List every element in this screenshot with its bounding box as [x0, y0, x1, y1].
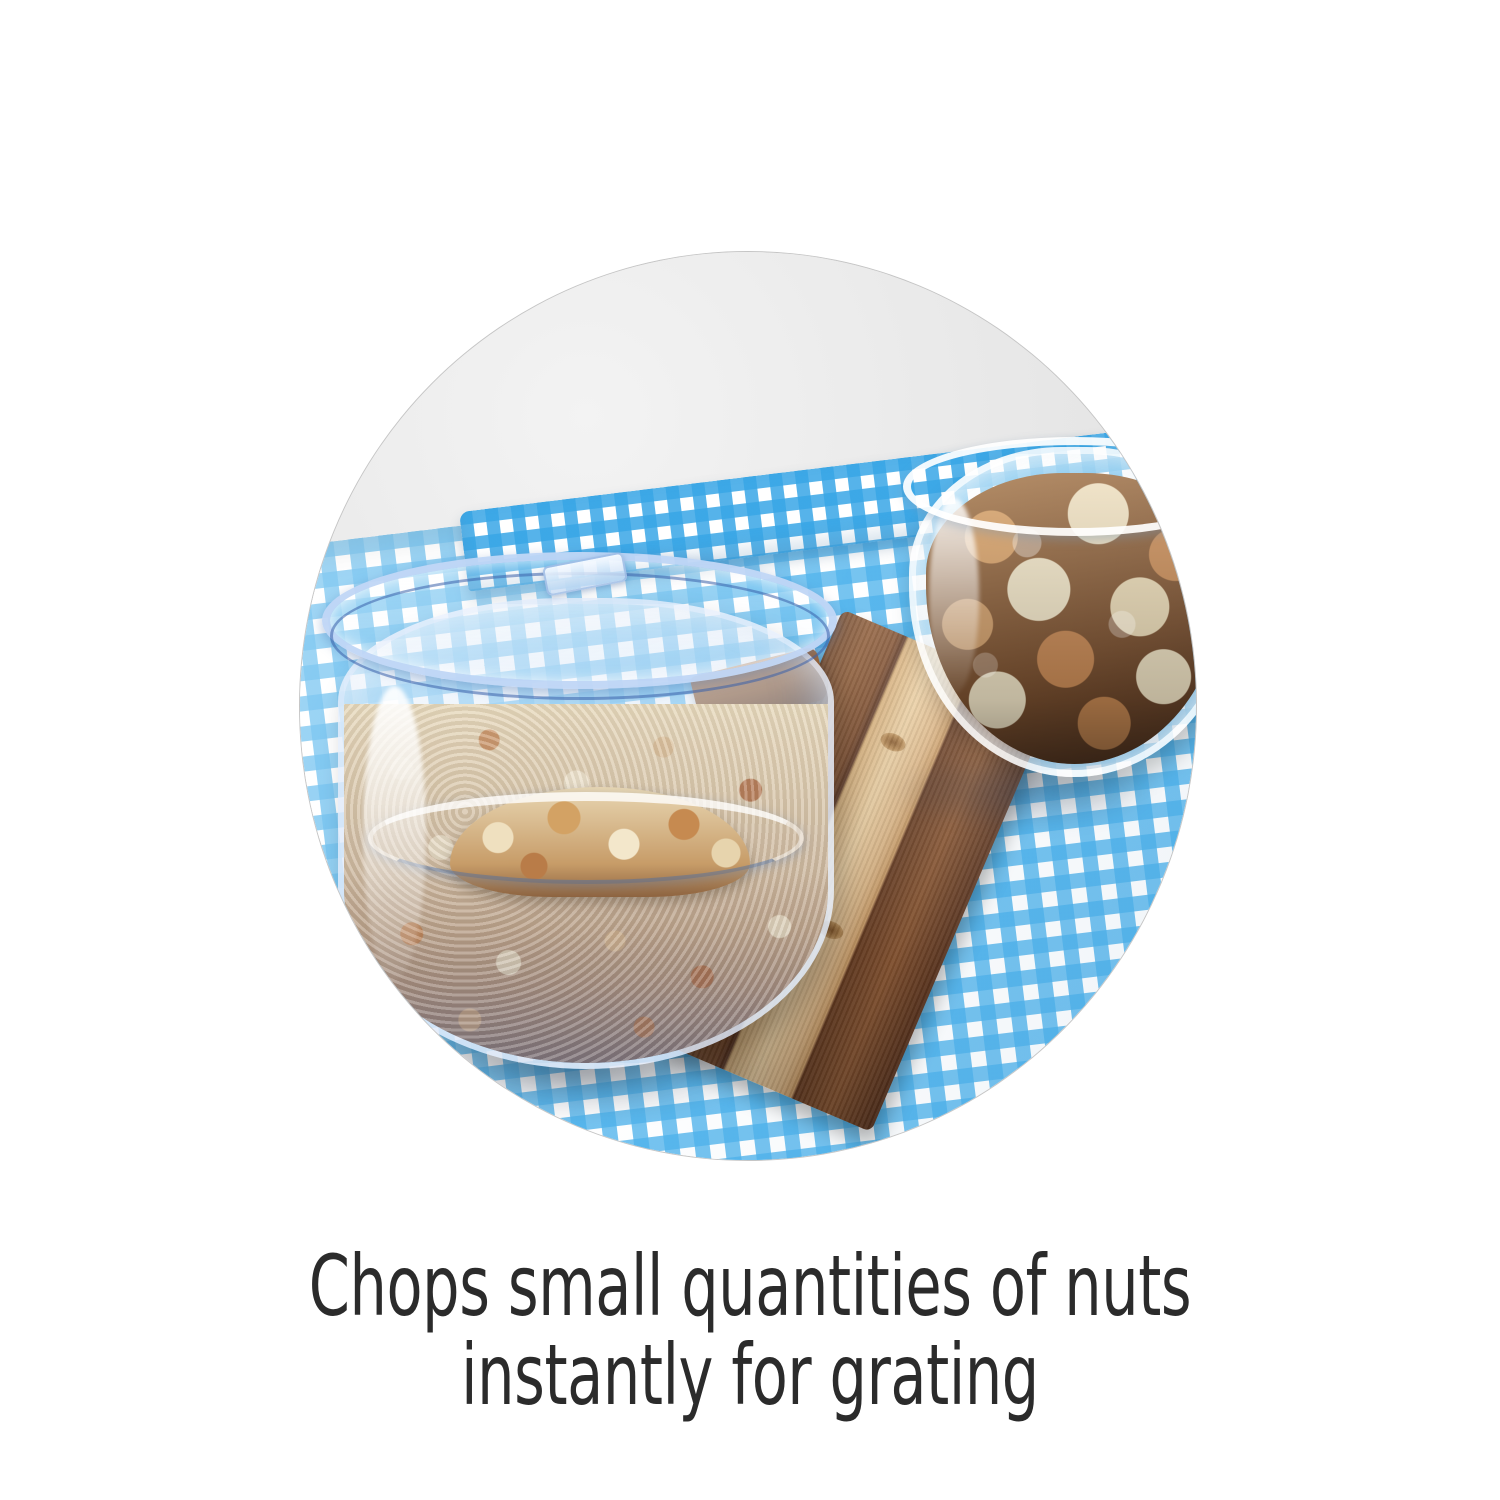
glass-highlight	[929, 498, 980, 694]
chopper-bowl-rim-inner-line	[330, 572, 830, 700]
caption-line-2: instantly for grating	[165, 1331, 1335, 1420]
chopper-blade-shelf	[368, 792, 804, 884]
chopper-bowl-of-chopped-nuts	[322, 552, 837, 1062]
caption-line-1: Chops small quantities of nuts	[165, 1242, 1335, 1331]
plastic-highlight	[363, 686, 426, 980]
glass-bowl-of-whole-nuts	[909, 447, 1196, 777]
wood-knot-icon	[878, 729, 909, 755]
product-feature-image	[300, 252, 1196, 1160]
product-feature-card: Chops small quantities of nuts instantly…	[0, 0, 1500, 1500]
feature-caption: Chops small quantities of nuts instantly…	[165, 1242, 1335, 1420]
